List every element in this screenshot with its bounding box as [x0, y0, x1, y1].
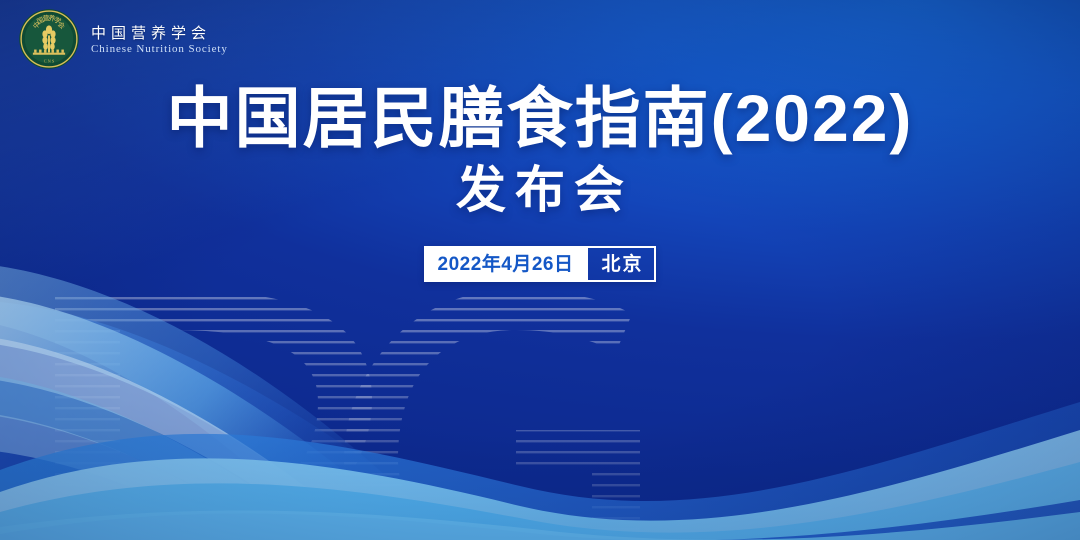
brand-name-cn: 中国营养学会 [91, 26, 228, 41]
brand-lockup: 中 国 营 养 学 会 [18, 8, 228, 70]
brand-name-en: Chinese Nutrition Society [91, 44, 228, 55]
page-subtitle: 发布会 [0, 163, 1080, 218]
event-meta: 2022年4月26日 北京 [0, 246, 1080, 282]
event-date: 2022年4月26日 [426, 248, 586, 280]
event-badge: 2022年4月26日 北京 [424, 246, 657, 282]
event-place: 北京 [588, 248, 654, 280]
page-title: 中国居民膳食指南(2022) [0, 84, 1080, 153]
poster-canvas: 中 国 营 养 学 会 [0, 0, 1080, 540]
chinese-nutrition-society-seal-icon: 中 国 营 养 学 会 [18, 8, 80, 70]
title-block: 中国居民膳食指南(2022) 发布会 [0, 84, 1080, 218]
svg-text:C N S: C N S [44, 59, 55, 64]
